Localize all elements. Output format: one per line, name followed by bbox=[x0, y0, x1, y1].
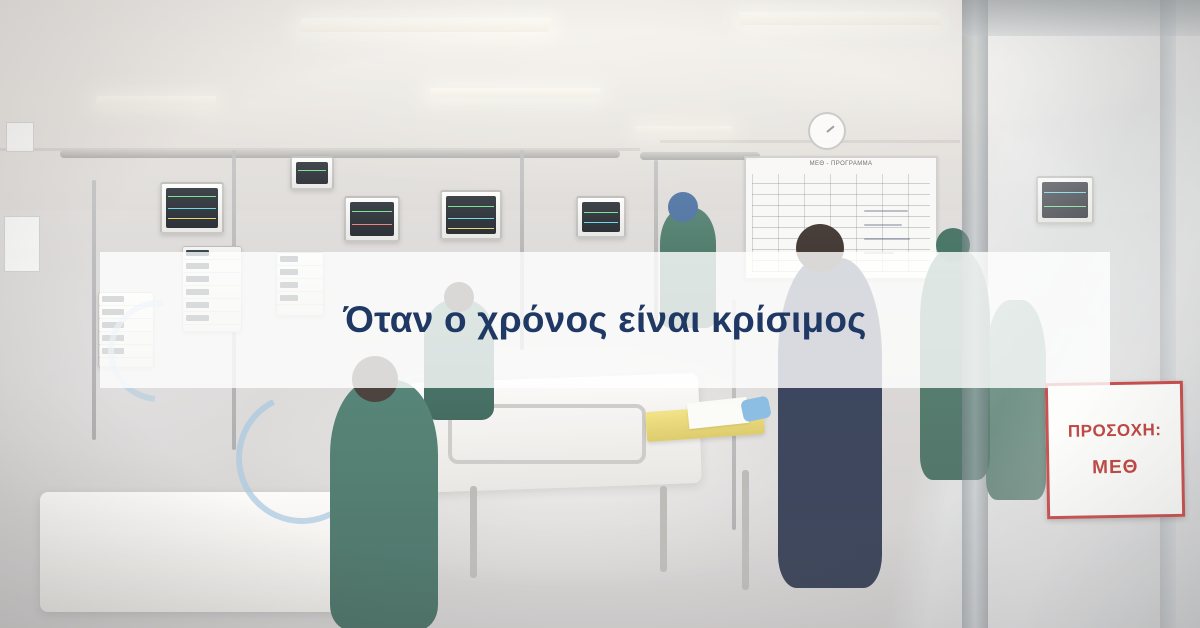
ceiling-light bbox=[298, 18, 552, 32]
patient-monitor bbox=[576, 196, 626, 238]
wall-clock bbox=[808, 112, 846, 150]
monitor-screen bbox=[350, 202, 394, 236]
staff-head bbox=[668, 192, 698, 222]
patient-monitor bbox=[290, 156, 334, 190]
caption-band: Όταν ο χρόνος είναι κρίσιμος bbox=[100, 252, 1110, 388]
monitor-screen bbox=[296, 162, 328, 184]
whiteboard-note bbox=[864, 224, 902, 226]
wall-note bbox=[6, 122, 34, 152]
equipment-rail bbox=[60, 150, 620, 158]
ceiling-light bbox=[429, 88, 601, 98]
equipment-rail bbox=[640, 152, 760, 160]
glass-door-header bbox=[962, 0, 1200, 36]
medical-staff bbox=[330, 380, 438, 628]
bed-leg bbox=[470, 486, 477, 578]
patient-monitor bbox=[440, 190, 502, 240]
warning-sign: ΠΡΟΣΟΧΗ: ΜΕΘ bbox=[1045, 381, 1185, 519]
patient-monitor bbox=[344, 196, 400, 242]
ceiling-light bbox=[739, 12, 941, 25]
iv-pole bbox=[92, 180, 96, 440]
whiteboard-note bbox=[864, 210, 908, 212]
caption-text: Όταν ο χρόνος είναι κρίσιμος bbox=[343, 298, 866, 342]
whiteboard-note bbox=[864, 238, 910, 240]
ceiling-light bbox=[636, 126, 732, 133]
whiteboard-title: ΜΕΘ - ΠΡΟΓΡΑΜΜΑ bbox=[746, 158, 936, 167]
warning-sign-line1: ΠΡΟΣΟΧΗ: bbox=[1068, 420, 1162, 442]
wall-note bbox=[4, 216, 40, 272]
monitor-screen bbox=[166, 188, 218, 228]
patient-monitor bbox=[160, 182, 224, 234]
bed-leg bbox=[742, 470, 749, 590]
ceiling-light bbox=[95, 96, 216, 105]
bed-leg bbox=[660, 486, 667, 572]
monitor-screen bbox=[582, 202, 620, 232]
warning-sign-line2: ΜΕΘ bbox=[1092, 457, 1139, 480]
monitor-screen bbox=[446, 196, 496, 234]
icu-banner: ΜΕΘ - ΠΡΟΓΡΑΜΜΑ bbox=[0, 0, 1200, 628]
